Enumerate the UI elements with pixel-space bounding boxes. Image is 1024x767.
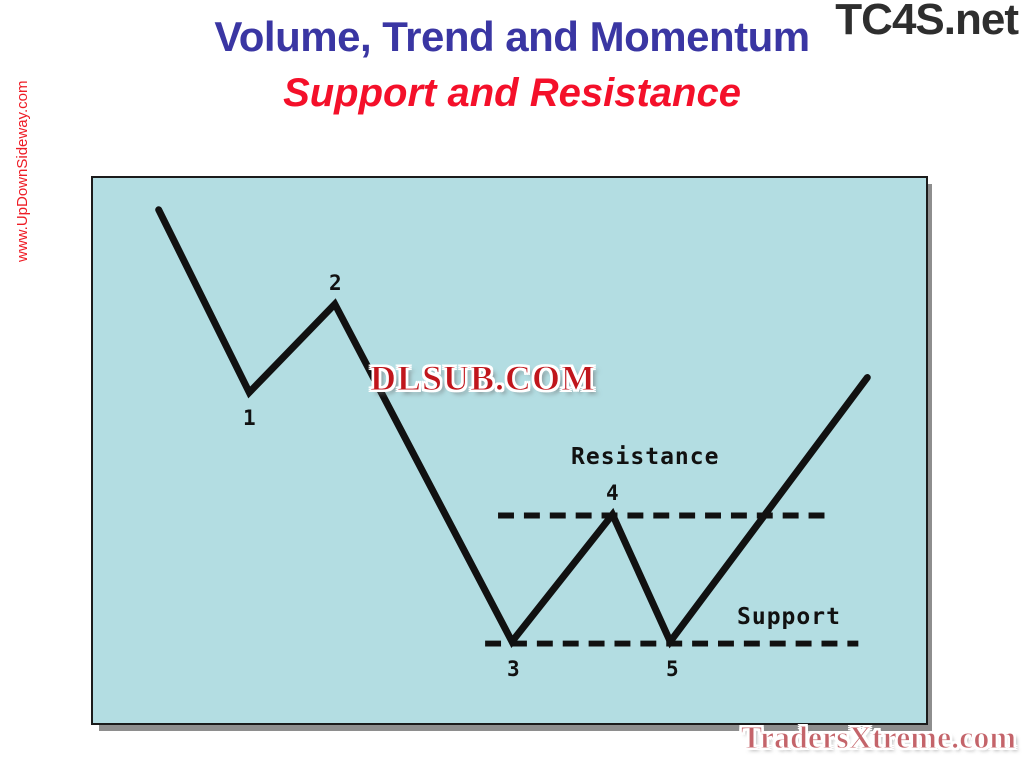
level-label-support: Support xyxy=(737,604,841,630)
price-zigzag-line xyxy=(159,210,868,642)
point-label-3: 3 xyxy=(507,657,520,681)
chart-panel: 12345ResistanceSupport xyxy=(91,176,928,725)
point-label-4: 4 xyxy=(606,481,619,505)
level-label-resistance: Resistance xyxy=(571,444,719,470)
point-label-1: 1 xyxy=(243,406,256,430)
point-label-2: 2 xyxy=(329,271,342,295)
watermark-tradersxtreme: TradersXtreme.com xyxy=(741,718,1016,756)
watermark-tc4s: TC4S.net xyxy=(835,0,1018,44)
page-subtitle: Support and Resistance xyxy=(0,66,1024,120)
chart-plot xyxy=(93,178,926,723)
point-label-5: 5 xyxy=(666,657,679,681)
watermark-dlsub: DLSUB.COM xyxy=(370,358,596,398)
watermark-updownsideway: www.UpDownSideway.com xyxy=(14,81,31,262)
